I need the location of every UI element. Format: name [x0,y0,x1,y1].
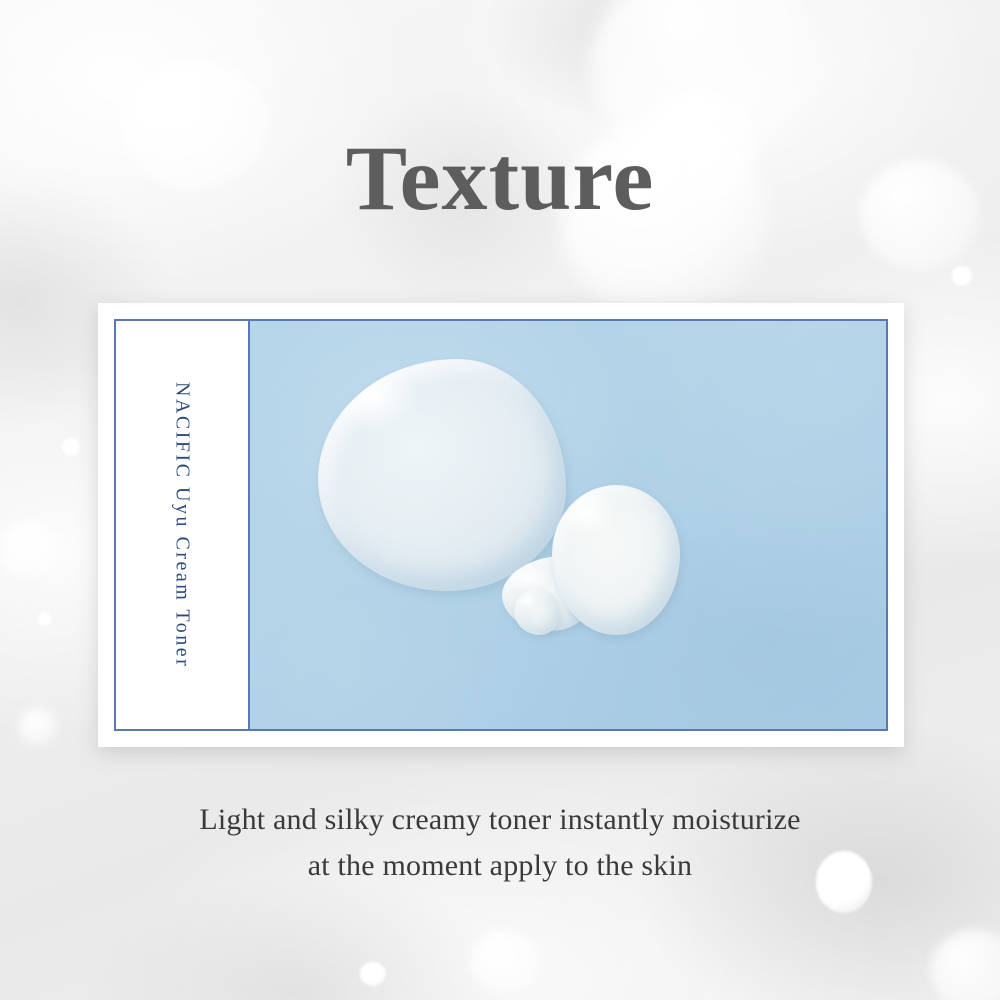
caption-line-2: at the moment apply to the skin [0,843,1000,889]
brand-label-panel: NACIFIC Uyu Cream Toner [116,321,250,729]
droplet-nub [514,589,560,635]
small-cream-droplet [500,485,680,643]
caption-line-1: Light and silky creamy toner instantly m… [0,797,1000,843]
poster-canvas: Texture NACIFIC Uyu Cream Toner Light an… [0,0,1000,1000]
brand-label: NACIFIC Uyu Cream Toner [171,382,194,668]
product-card: NACIFIC Uyu Cream Toner [98,303,904,747]
droplet-bulb [552,485,680,635]
card-inner-frame: NACIFIC Uyu Cream Toner [114,319,888,731]
caption-block: Light and silky creamy toner instantly m… [0,797,1000,889]
product-texture-photo [250,321,886,729]
page-title: Texture [0,132,1000,224]
